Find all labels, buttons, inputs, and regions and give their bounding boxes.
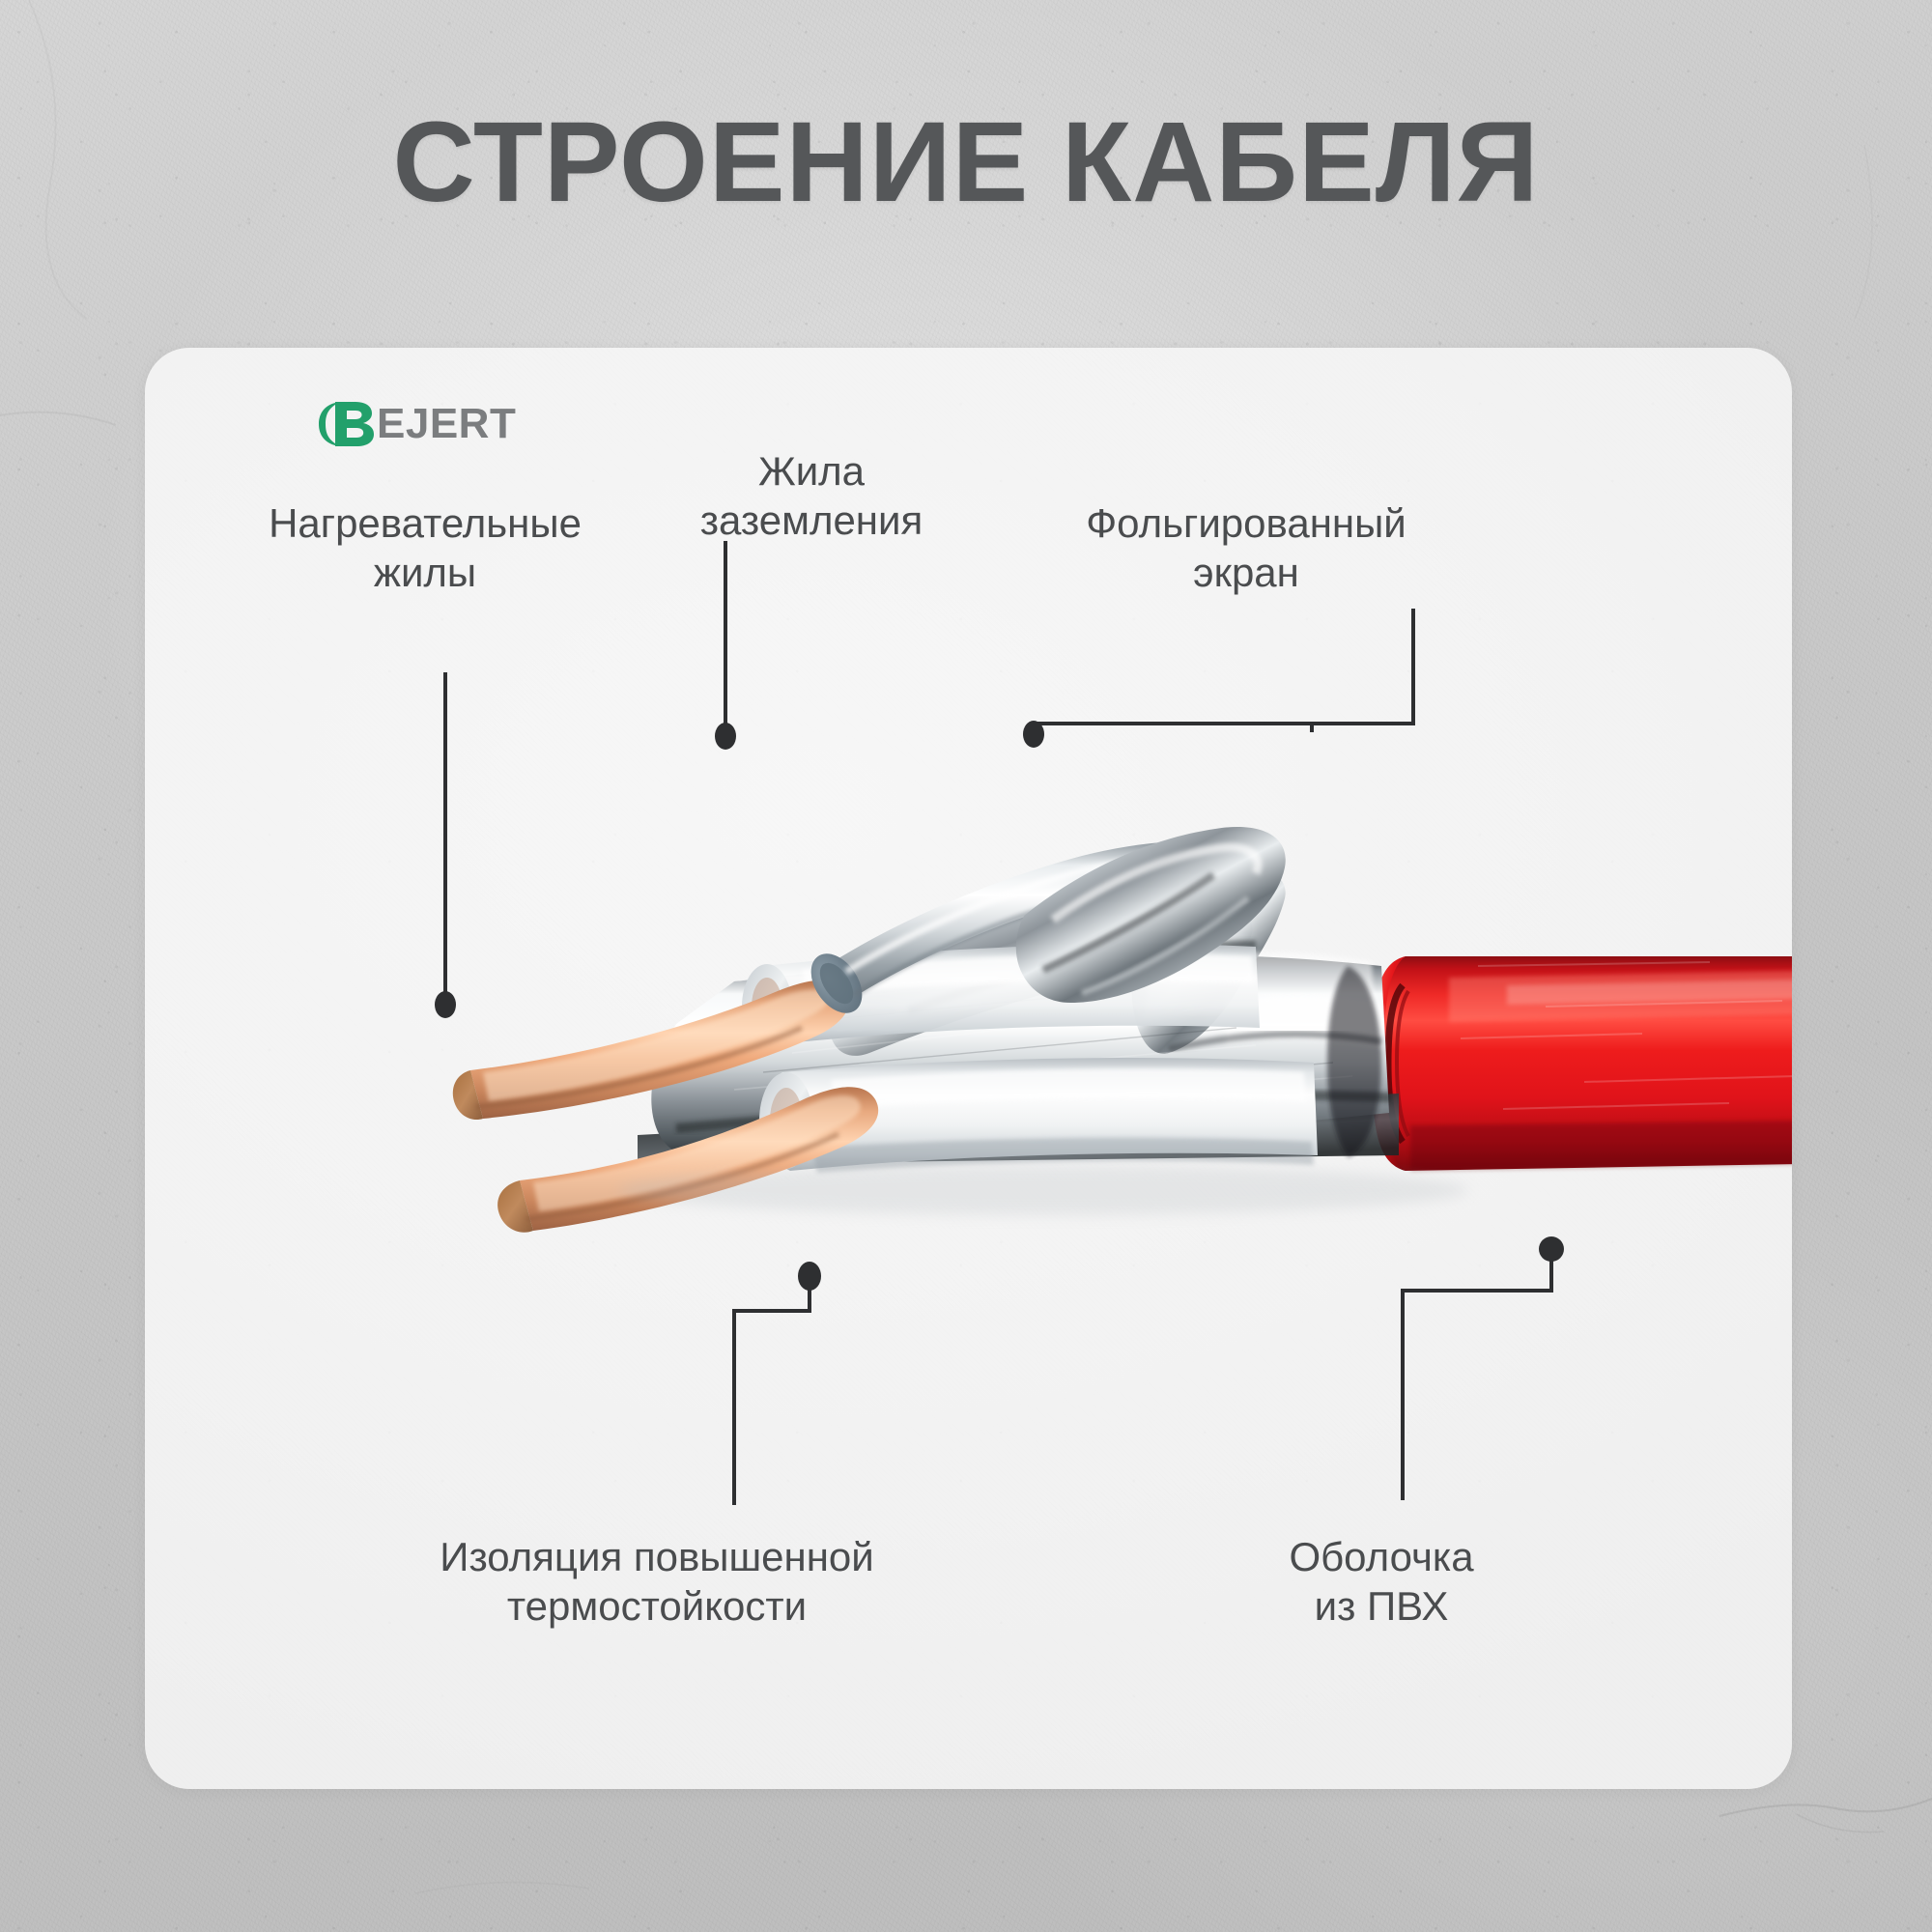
label-ground-core: Жила заземления [580,446,1043,545]
poster-root: СТРОЕНИЕ КАБЕЛЯ EJERT [0,0,1932,1932]
label-foil-shield: Фольгированный экран [976,498,1517,597]
cable-contact-shadow [618,1165,1468,1215]
pvc-sheath-layer [1372,956,1797,1171]
label-insulation: Изоляция повышенной термостойкости [299,1532,1014,1631]
label-pvc-sheath: Оболочка из ПВХ [1111,1532,1652,1631]
cable-cutaway-illustration [0,0,1932,1932]
